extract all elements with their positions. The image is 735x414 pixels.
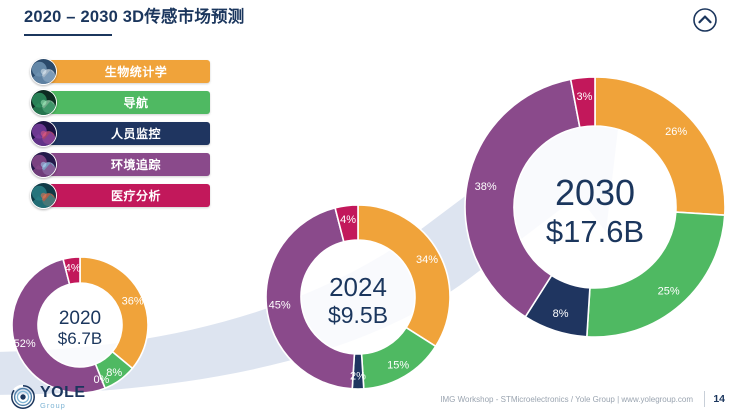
donut-center-year: 2024 [329,272,387,302]
people-monitoring-photo-icon [30,120,57,147]
yole-wordmark-name: YOLE [40,385,86,401]
donut-slice[interactable] [358,205,450,346]
donut-center-total: $17.6B [546,214,644,249]
medical-analysis-photo-icon [30,182,57,209]
donut-slice[interactable] [266,208,354,389]
donut-center-total: $6.7B [58,329,102,348]
donut-slice[interactable] [80,257,148,368]
footer: YOLE Group IMG Workshop - STMicroelectro… [0,380,735,414]
footer-divider [704,391,705,407]
donut-slice[interactable] [587,212,725,337]
yole-logo: YOLE Group [10,384,86,410]
donut-center-disc [514,126,676,288]
yole-spiral-icon [10,384,36,410]
environment-tracking-photo-icon [30,151,57,178]
page-number: 14 [713,393,725,405]
footer-note-text: IMG Workshop - STMicroelectronics / Yole… [440,395,693,404]
donut-center-year: 2020 [59,308,101,329]
donut-center-year: 2030 [555,172,635,213]
donut-center-total: $9.5B [328,302,388,328]
donut-charts: 36%8%0%52%4%2020$6.7B34%15%2%45%4%2024$9… [0,0,735,414]
donut-slice[interactable] [595,77,725,215]
donut-chart-2024: 34%15%2%45%4%2024$9.5B [0,0,735,414]
yole-wordmark-sub: Group [40,402,86,410]
slide-canvas: 2020 – 2030 3D传感市场预测 生物统计学 导航 人员监控 [0,0,735,414]
navigation-chip-photo-icon [30,89,57,116]
face-biometrics-photo-icon [30,58,57,85]
